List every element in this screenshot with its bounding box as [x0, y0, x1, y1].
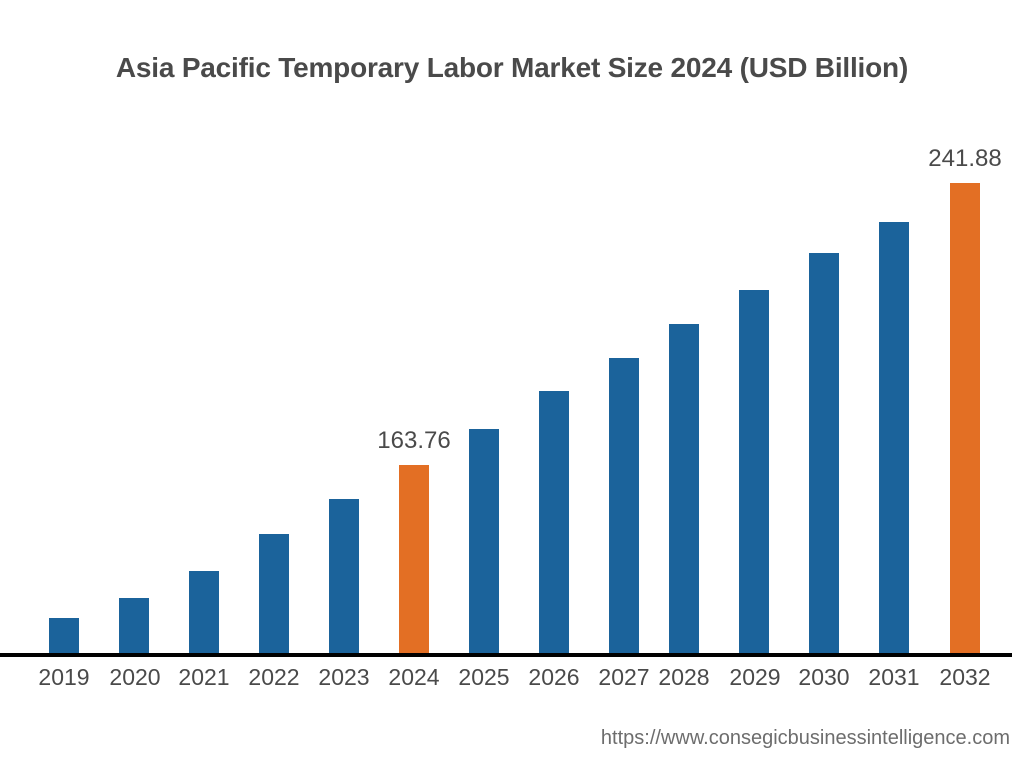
bar-2022[interactable] [259, 534, 289, 657]
bar-2032[interactable] [950, 183, 980, 657]
bar-2021[interactable] [189, 571, 219, 657]
bar-2029[interactable] [739, 290, 769, 657]
bar-2025[interactable] [469, 429, 499, 657]
bar-2031[interactable] [879, 222, 909, 657]
x-axis-line [0, 653, 1012, 657]
bar-2019[interactable] [49, 618, 79, 657]
bar-2028[interactable] [669, 324, 699, 657]
bar-value-label-2032: 241.88 [928, 145, 1001, 173]
x-tick-label-2032: 2032 [920, 664, 1010, 691]
bar-2023[interactable] [329, 499, 359, 657]
x-axis-tick-labels: 2019202020212022202320242025202620272028… [0, 664, 1024, 700]
chart-container: Asia Pacific Temporary Labor Market Size… [0, 0, 1024, 768]
plot-area: 163.76241.88 [0, 0, 1024, 657]
bar-value-label-2024: 163.76 [377, 427, 450, 455]
bar-2024[interactable] [399, 465, 429, 657]
source-url-text: https://www.consegicbusinessintelligence… [601, 727, 1010, 750]
bar-2027[interactable] [609, 358, 639, 657]
bar-2026[interactable] [539, 391, 569, 657]
bar-2030[interactable] [809, 253, 839, 657]
bar-2020[interactable] [119, 598, 149, 657]
